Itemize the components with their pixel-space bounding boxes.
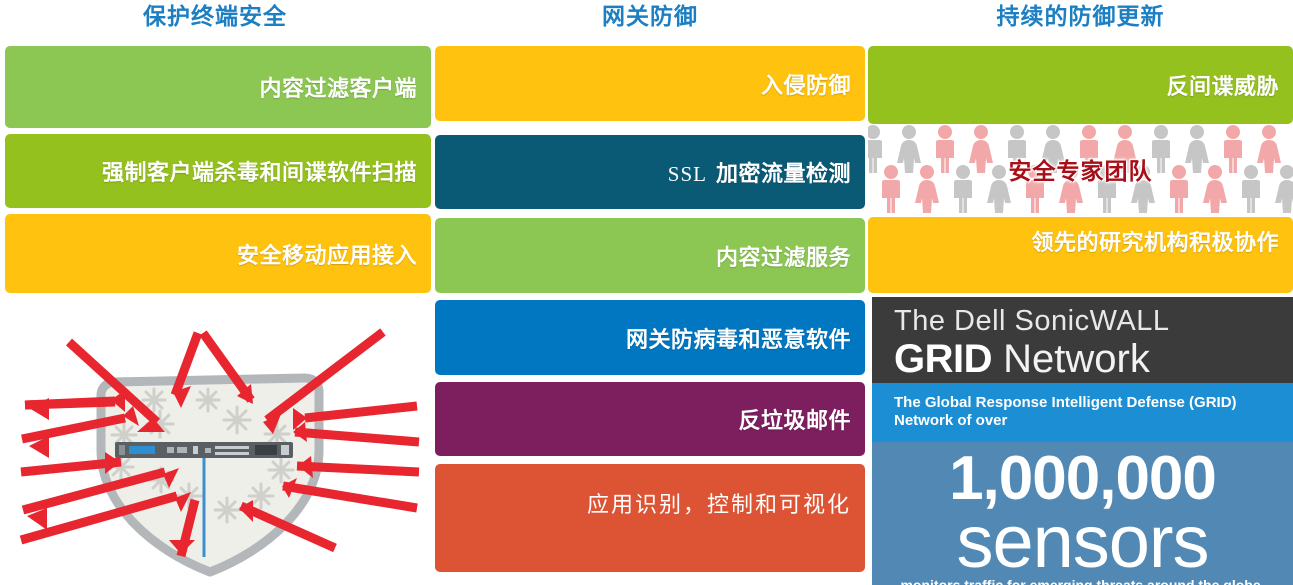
appliance-icon	[115, 442, 293, 458]
grid-brand-bold: GRID	[894, 337, 992, 381]
grid-panel-stat: 1,000,000 sensors monitors traffic for e…	[872, 442, 1293, 585]
bar-label: 安全移动应用接入	[237, 238, 431, 270]
grid-brand-line: The Dell SonicWALL	[894, 305, 1293, 338]
bar-label: 内容过滤服务	[716, 240, 865, 272]
bar-label: 网关防病毒和恶意软件	[626, 322, 865, 354]
bar-intrusion-prevention[interactable]: 入侵防御	[435, 46, 865, 121]
column-header-gateway: 网关防御	[435, 2, 865, 32]
ssl-prefix: SSL	[668, 162, 716, 186]
bar-gateway-antivirus-malware[interactable]: 网关防病毒和恶意软件	[435, 300, 865, 375]
bar-secure-mobile-access[interactable]: 安全移动应用接入	[5, 214, 431, 293]
grid-panel-description: The Global Response Intelligent Defense …	[872, 383, 1293, 442]
bar-label: 入侵防御	[761, 68, 865, 100]
bar-label: 应用识别，控制和可视化	[587, 487, 865, 519]
bar-label: SSL加密流量检测	[668, 156, 865, 188]
bar-ssl-decryption[interactable]: SSL加密流量检测	[435, 135, 865, 209]
bar-anti-spyware-threats[interactable]: 反间谍威胁	[868, 46, 1293, 124]
bar-content-filtering-client[interactable]: 内容过滤客户端	[5, 46, 431, 128]
bar-label: 领先的研究机构积极协作	[1031, 225, 1293, 257]
column-header-updates: 持续的防御更新	[868, 2, 1293, 32]
grid-footer-text: monitors traffic for emerging threats ar…	[872, 574, 1293, 585]
column-header-endpoint: 保护终端安全	[0, 2, 430, 32]
bar-content-filtering-service[interactable]: 内容过滤服务	[435, 218, 865, 293]
bar-enforced-client-av[interactable]: 强制客户端杀毒和间谍软件扫描	[5, 134, 431, 208]
grid-brand-title: GRID Network	[894, 338, 1293, 389]
bar-research-collaboration[interactable]: 领先的研究机构积极协作	[868, 217, 1293, 293]
grid-sensors-word: sensors	[872, 510, 1293, 574]
grid-brand-rest: Network	[992, 337, 1150, 381]
bar-label: 内容过滤客户端	[259, 71, 431, 103]
shield-under-attack-illustration	[5, 300, 431, 585]
bar-label: 反间谍威胁	[1166, 69, 1293, 101]
grid-network-panel: The Dell SonicWALL GRID Network The Glob…	[872, 297, 1293, 585]
bar-anti-spam[interactable]: 反垃圾邮件	[435, 382, 865, 456]
bar-application-control-visualization[interactable]: 应用识别，控制和可视化	[435, 464, 865, 572]
bar-label: 反垃圾邮件	[738, 403, 865, 435]
slide-canvas: 保护终端安全 网关防御 持续的防御更新 内容过滤客户端 强制客户端杀毒和间谍软件…	[0, 0, 1293, 585]
bar-label: 强制客户端杀毒和间谍软件扫描	[102, 155, 431, 187]
security-experts-people-strip	[868, 125, 1293, 215]
grid-panel-header: The Dell SonicWALL GRID Network	[872, 297, 1293, 383]
grid-description-text: The Global Response Intelligent Defense …	[894, 394, 1293, 430]
bar-label-text: 加密流量检测	[716, 161, 851, 186]
